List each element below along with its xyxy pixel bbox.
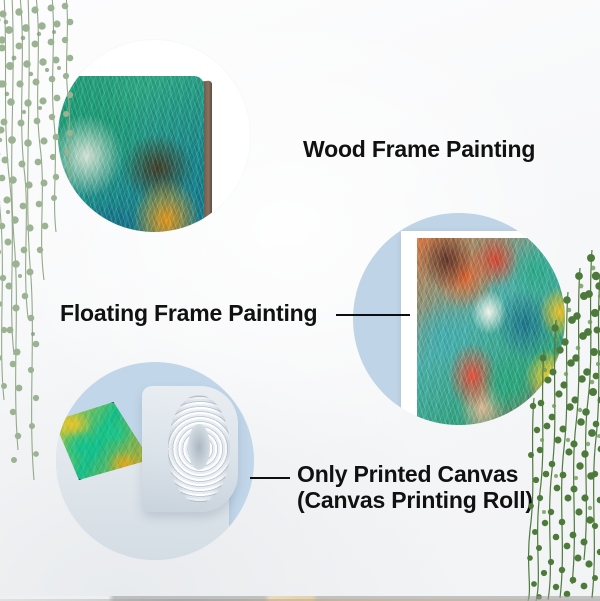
label-canvas-line-2: (Canvas Printing Roll) — [297, 487, 533, 513]
leader-line-canvas-roll — [250, 477, 290, 479]
label-canvas-roll: Only Printed Canvas (Canvas Printing Rol… — [297, 461, 533, 513]
product-circle-canvas-roll[interactable] — [56, 362, 254, 560]
brush-stroke-texture-fine — [417, 238, 565, 425]
label-canvas-line-1: Only Printed Canvas — [297, 461, 533, 487]
product-circle-floating-frame[interactable] — [353, 213, 565, 425]
floating-frame-artwork — [417, 238, 565, 425]
brush-stroke-texture — [58, 76, 204, 232]
wood-frame-artwork — [58, 76, 204, 232]
label-floating-frame: Floating Frame Painting — [60, 300, 317, 327]
canvas-roll-core — [188, 424, 210, 470]
infographic-canvas: Wood Frame Painting Floating Frame Paint… — [0, 0, 600, 601]
brush-stroke-texture-fine — [58, 76, 204, 232]
label-wood-frame: Wood Frame Painting — [303, 136, 535, 163]
product-circle-wood-frame[interactable] — [58, 40, 250, 232]
leader-line-floating-frame — [336, 314, 410, 316]
